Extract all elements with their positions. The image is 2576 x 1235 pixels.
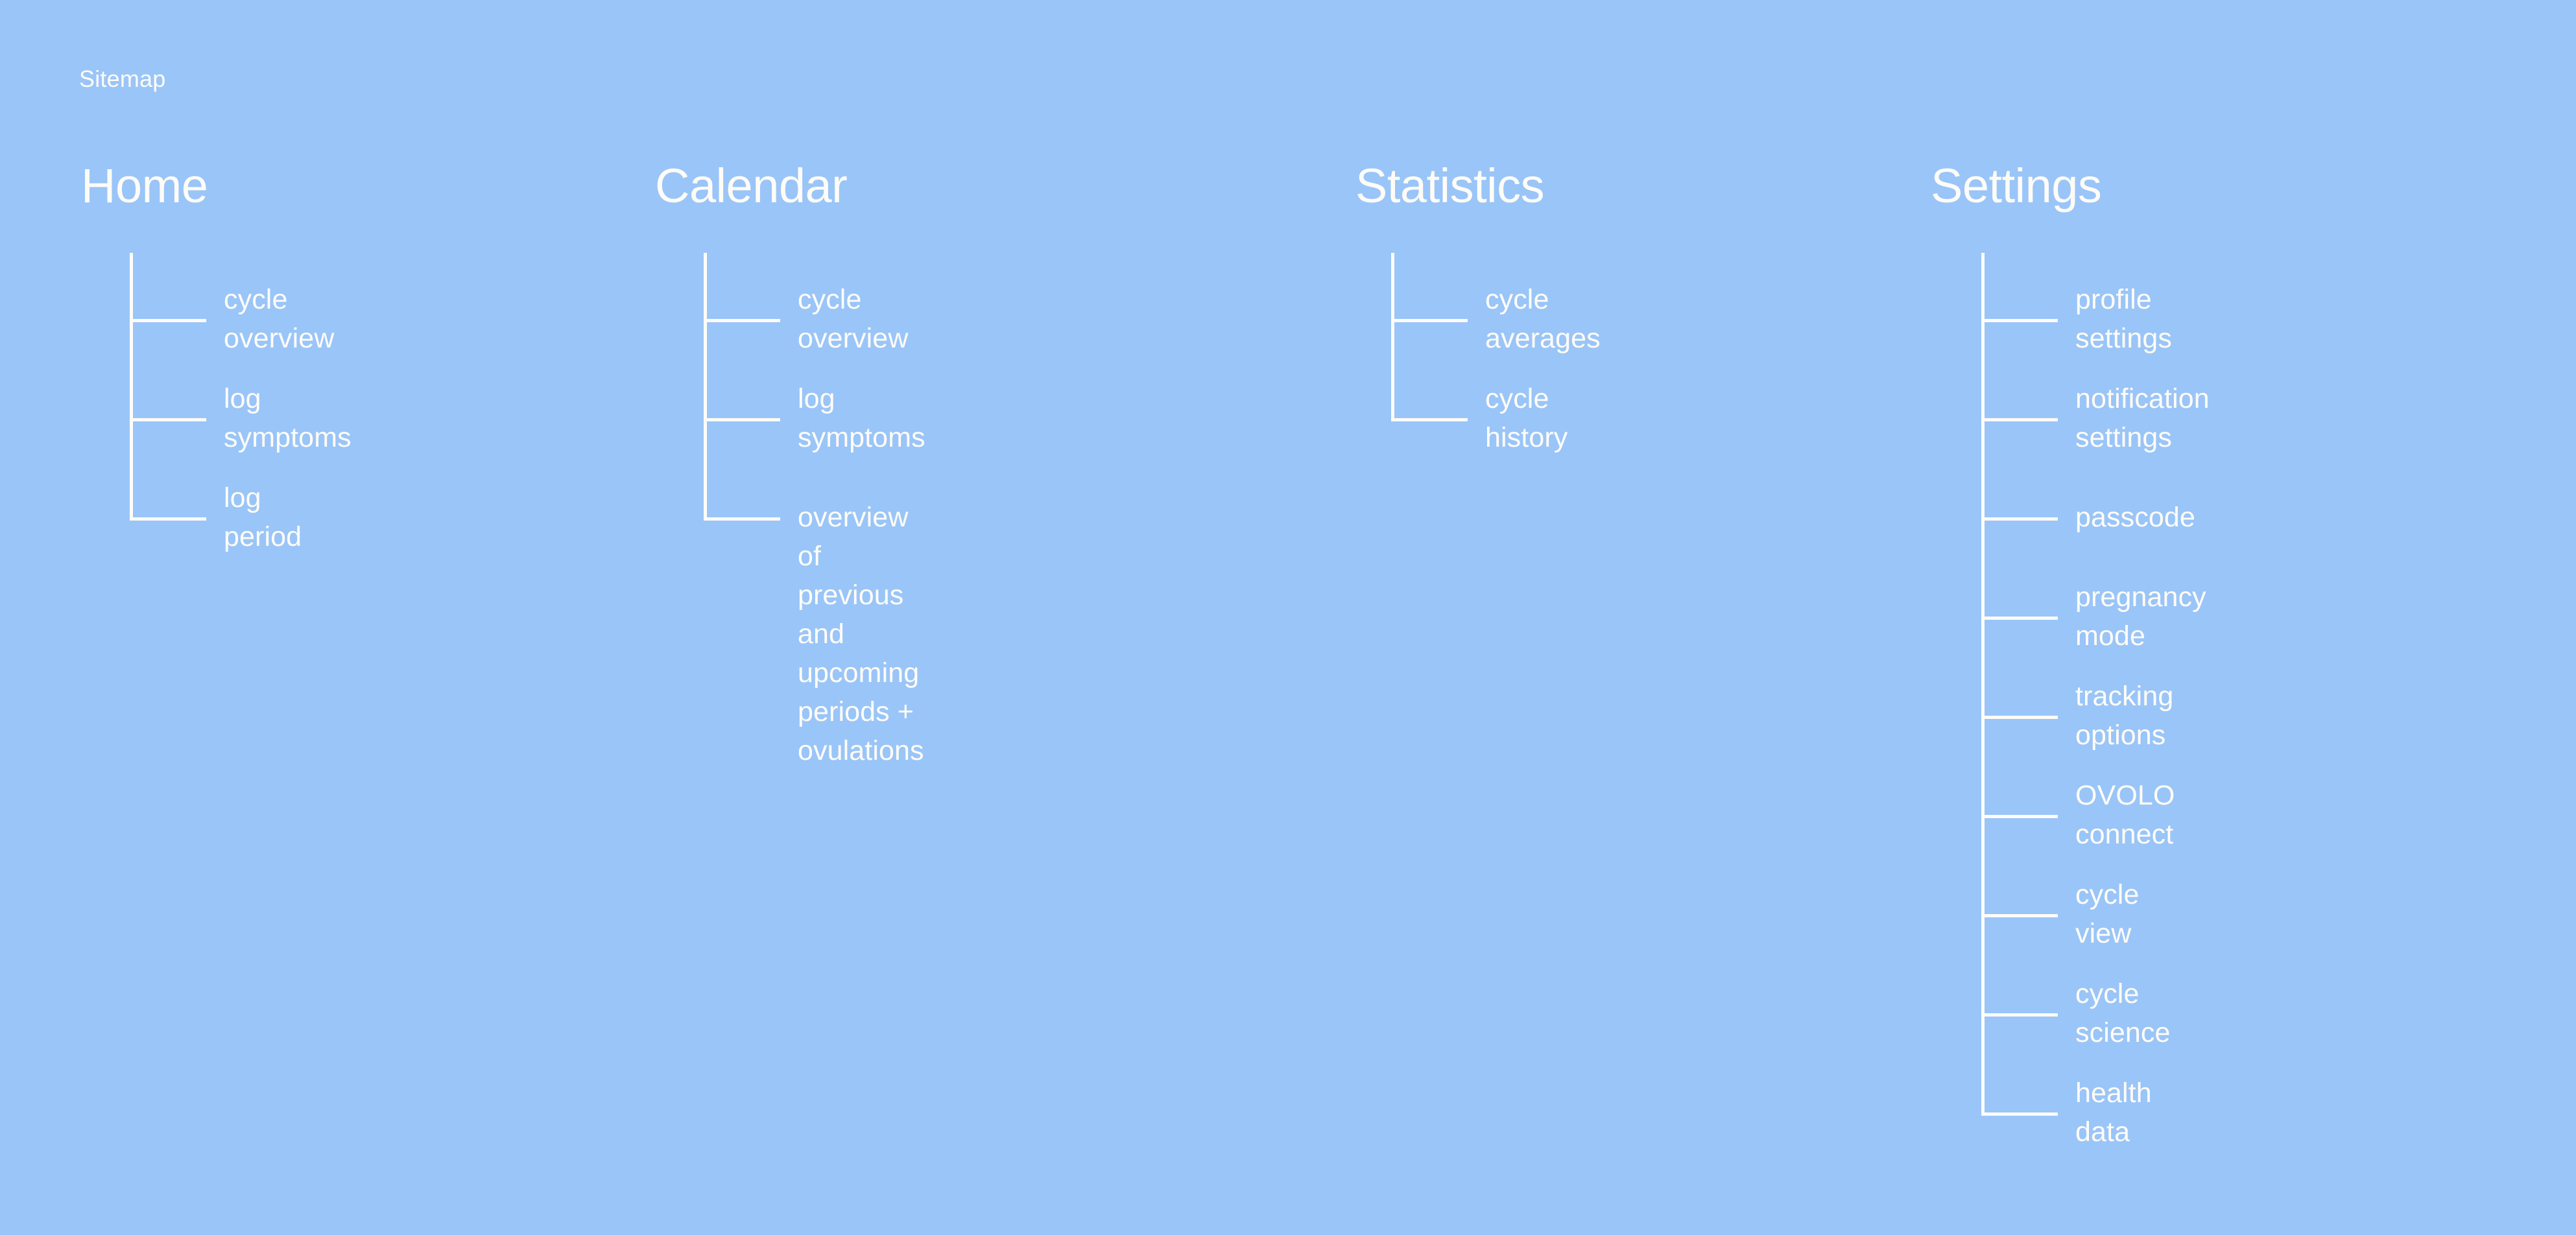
tree-spine <box>1981 253 1985 1116</box>
tree-branch-line <box>1981 617 2058 620</box>
tree-node-label[interactable]: profile settings <box>2075 280 2172 358</box>
tree-node-label[interactable]: tracking options <box>2075 677 2173 755</box>
tree-branch-line <box>1391 319 1468 322</box>
tree-node-label[interactable]: cycle overview <box>798 280 908 358</box>
tree-node-label[interactable]: log symptoms <box>224 379 352 457</box>
tree-node-label[interactable]: notification settings <box>2075 379 2210 457</box>
tree-branch-line <box>704 517 780 521</box>
tree-branch-line <box>1981 517 2058 521</box>
tree-branch-line <box>1981 815 2058 818</box>
tree-node-label[interactable]: cycle science <box>2075 974 2171 1052</box>
tree-branch-line <box>1981 914 2058 917</box>
tree-branch-line <box>1981 1112 2058 1116</box>
tree-node-label[interactable]: cycle view <box>2075 875 2139 953</box>
tree-branch-line <box>130 319 206 322</box>
tree-node-label[interactable]: log symptoms <box>798 379 925 457</box>
column-title-statistics[interactable]: Statistics <box>1355 162 1544 210</box>
column-title-settings[interactable]: Settings <box>1931 162 2101 210</box>
tree-spine <box>1391 253 1394 421</box>
tree-node-label[interactable]: cycle overview <box>224 280 334 358</box>
sitemap-canvas: Sitemap Home cycle overviewlog symptomsl… <box>0 0 2576 1235</box>
tree-branch-line <box>1981 418 2058 421</box>
tree-branch-line <box>1981 1013 2058 1017</box>
tree-node-label[interactable]: OVOLO connect <box>2075 776 2175 854</box>
tree-node-label[interactable]: pregnancy mode <box>2075 578 2206 655</box>
tree-branch-line <box>1391 418 1468 421</box>
tree-node-label[interactable]: cycle averages <box>1485 280 1601 358</box>
column-title-calendar[interactable]: Calendar <box>655 162 847 210</box>
tree-node-label[interactable]: passcode <box>2075 498 2195 537</box>
tree-node-label[interactable]: health data <box>2075 1074 2152 1151</box>
tree-branch-line <box>1981 716 2058 719</box>
column-title-home[interactable]: Home <box>81 162 208 210</box>
tree-spine <box>704 253 707 521</box>
tree-node-label[interactable]: cycle history <box>1485 379 1568 457</box>
tree-spine <box>130 253 133 521</box>
tree-branch-line <box>704 319 780 322</box>
tree-branch-line <box>130 418 206 421</box>
tree-branch-line <box>1981 319 2058 322</box>
tree-branch-line <box>130 517 206 521</box>
tree-node-label[interactable]: overview of previous and upcoming period… <box>798 498 924 770</box>
tree-node-label[interactable]: log period <box>224 478 302 556</box>
sitemap-caption: Sitemap <box>79 66 165 92</box>
tree-branch-line <box>704 418 780 421</box>
